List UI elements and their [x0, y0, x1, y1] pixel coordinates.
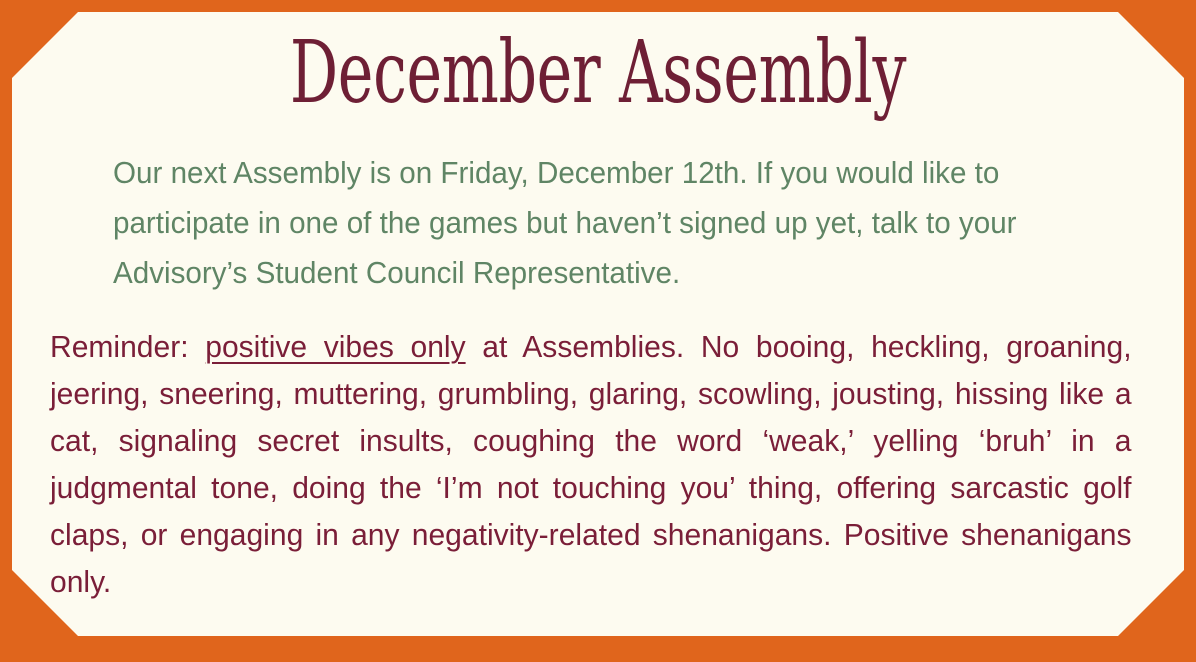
page-title: December Assembly — [188, 30, 1008, 118]
reminder-lead-label: Reminder: — [50, 330, 189, 364]
slide-canvas: December Assembly Our next Assembly is o… — [0, 0, 1196, 662]
assembly-rules-rest: at Assemblies. No booing, heckling, groa… — [50, 330, 1132, 599]
card-content: December Assembly Our next Assembly is o… — [12, 12, 1184, 636]
assembly-rules-paragraph: Reminder: positive vibes only at Assembl… — [50, 324, 1132, 606]
announcement-card: December Assembly Our next Assembly is o… — [12, 12, 1184, 636]
assembly-intro-text: Our next Assembly is on Friday, December… — [113, 148, 1032, 298]
positive-vibes-emphasis: positive vibes only — [205, 330, 465, 364]
